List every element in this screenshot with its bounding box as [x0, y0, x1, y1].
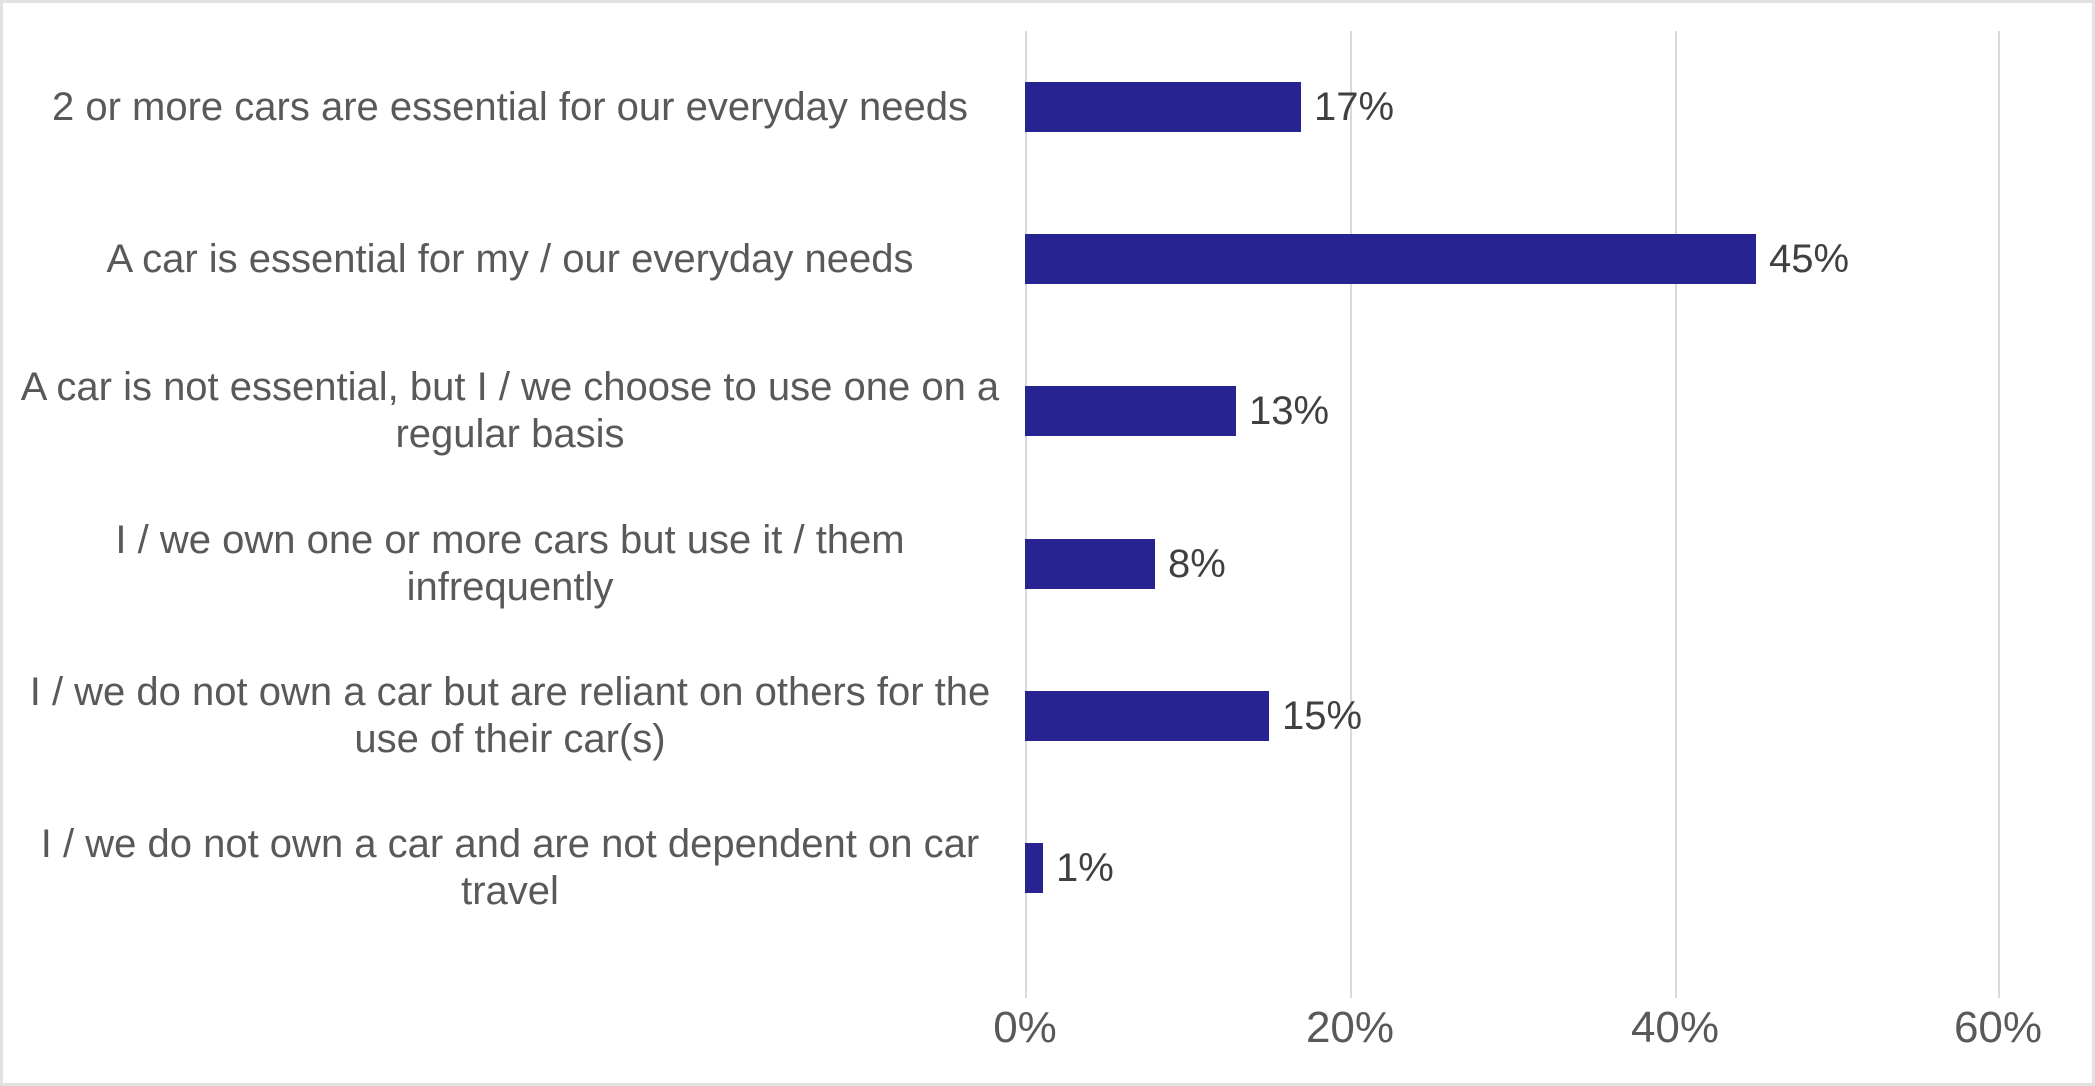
bar-value-label: 45% [1756, 233, 1849, 285]
bar-chart: 17% 45% 13% 8% 15% 1% 2 or more cars are… [0, 0, 2095, 1086]
x-tick-label: 40% [1631, 1003, 1719, 1053]
bar-value-label: 8% [1155, 538, 1226, 590]
bar-value-label: 13% [1236, 385, 1329, 437]
category-label-text: 2 or more cars are essential for our eve… [3, 84, 1017, 131]
bar-row: 15% [1025, 640, 2000, 792]
category-label-text: I / we own one or more cars but use it /… [3, 517, 1017, 611]
bar[interactable] [1025, 691, 1269, 741]
category-label-text: A car is essential for my / our everyday… [3, 236, 1017, 283]
category-axis: 2 or more cars are essential for our eve… [3, 31, 1017, 998]
bar-row: 17% [1025, 31, 2000, 183]
category-label-text: A car is not essential, but I / we choos… [3, 364, 1017, 458]
x-tick-label: 60% [1954, 1003, 2042, 1053]
bar[interactable] [1025, 843, 1043, 893]
x-tick-label: 20% [1306, 1003, 1394, 1053]
category-label: A car is not essential, but I / we choos… [3, 335, 1017, 487]
plot-area: 17% 45% 13% 8% 15% 1% [1025, 31, 2000, 998]
bar-value-label: 15% [1269, 690, 1362, 742]
bar-row: 13% [1025, 335, 2000, 487]
category-label-text: I / we do not own a car and are not depe… [3, 821, 1017, 915]
category-label: A car is essential for my / our everyday… [3, 183, 1017, 335]
category-label-text: I / we do not own a car but are reliant … [3, 669, 1017, 763]
bar-value-label: 1% [1043, 842, 1114, 894]
category-label: I / we do not own a car and are not depe… [3, 792, 1017, 944]
category-label: I / we do not own a car but are reliant … [3, 640, 1017, 792]
bar[interactable] [1025, 386, 1236, 436]
bar[interactable] [1025, 82, 1301, 132]
category-label: I / we own one or more cars but use it /… [3, 488, 1017, 640]
bar-value-label: 17% [1301, 81, 1394, 133]
bar-row: 1% [1025, 792, 2000, 944]
bar[interactable] [1025, 234, 1756, 284]
category-label: 2 or more cars are essential for our eve… [3, 31, 1017, 183]
bar-row: 8% [1025, 488, 2000, 640]
bar-row: 45% [1025, 183, 2000, 335]
bar[interactable] [1025, 539, 1155, 589]
x-tick-label: 0% [993, 1003, 1057, 1053]
value-axis: 0% 20% 40% 60% [1025, 1003, 2000, 1063]
